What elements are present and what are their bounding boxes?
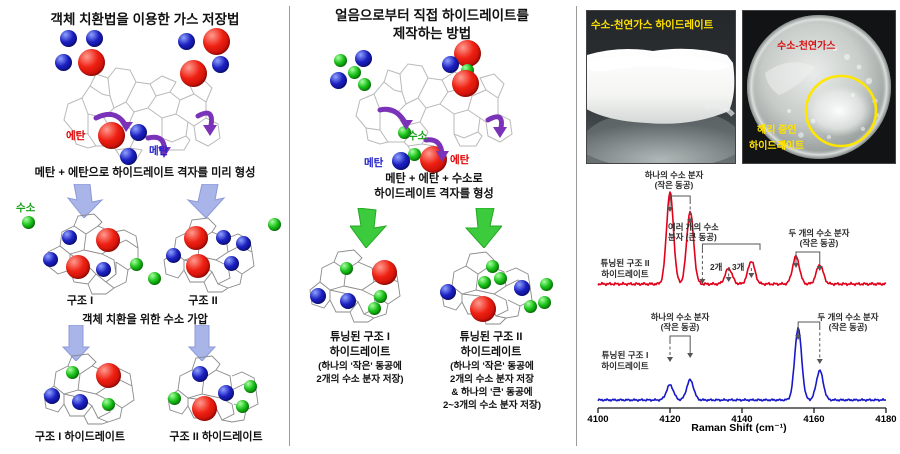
hydrogen-sphere: [494, 272, 507, 285]
insertion-arrows: [30, 38, 260, 173]
middle-step1-line2: 하이드레이트 격자를 형성: [300, 187, 568, 202]
ann-sII-3: 두 개의 수소 분자 (작은 동공): [766, 228, 872, 248]
figure-root: 객체 치환법을 이용한 가스 저장법: [0, 0, 900, 454]
ann-sII-2-line2: 분자 (큰 동공): [668, 232, 717, 242]
x-axis: [598, 408, 886, 413]
structure-II-label: 구조 II: [168, 294, 238, 308]
raman-chart: 하나의 수소 분자 (작은 동공) 여러 개의 수소 분자 (큰 동공) 두 개…: [580, 172, 898, 450]
hydrogen-sphere: [268, 218, 281, 231]
ann-sII-1: 하나의 수소 분자 (작은 동공): [622, 170, 726, 190]
x-axis-label: Raman Shift (cm⁻¹): [580, 422, 898, 434]
ann-sII-1-line1: 하나의 수소 분자: [645, 170, 704, 180]
hydrogen-sphere: [540, 278, 553, 291]
tuned-I-name-line2: 하이드레이트: [300, 345, 420, 359]
hydrogen-label: 수소: [16, 200, 35, 215]
hydrogen-sphere: [66, 366, 79, 379]
ann-sI-1: 하나의 수소 분자 (작은 동공): [628, 312, 732, 332]
methane-sphere: [62, 230, 77, 245]
methane-sphere: [216, 230, 231, 245]
ann-sII-2: 여러 개의 수소 분자 (큰 동공): [668, 222, 738, 242]
hydrate-II-label: 구조 II 하이드레이트: [148, 430, 284, 444]
ann-sII-3-line1: 두 개의 수소 분자: [789, 228, 850, 238]
annotation-bracket: [796, 252, 820, 257]
methane-sphere: [440, 284, 456, 300]
hydrogen-sphere: [486, 260, 499, 273]
ann-sI-1-line2: (작은 동공): [661, 322, 700, 332]
ethane-sphere: [470, 296, 496, 322]
structure-I-label: 구조 I: [45, 294, 115, 308]
methane-sphere: [218, 385, 234, 401]
hydrogen-sphere: [22, 216, 35, 229]
middle-arrow-down-1: [350, 208, 396, 248]
methane-sphere: [72, 394, 88, 410]
ann-sI-2-line1: 두 개의 수소 분자: [818, 312, 879, 322]
annotation-arrow: [817, 327, 823, 364]
annotation-bracket: [670, 196, 690, 201]
methane-sphere: [43, 252, 58, 267]
ann-sII-1-line2: (작은 동공): [655, 180, 694, 190]
hydrogen-label: 수소: [408, 128, 427, 143]
left-step1-text: 메탄 + 에탄으로 하이드레이트 격자를 미리 형성: [2, 166, 288, 181]
hydrogen-sphere: [244, 380, 257, 393]
hydrogen-sphere: [538, 296, 551, 309]
left-panel-title: 객체 치환법을 이용한 가스 저장법: [6, 12, 284, 29]
tuned-II-detail-line4: 2~3개의 수소 분자 저장): [424, 400, 560, 412]
hydrogen-sphere: [478, 276, 491, 289]
tuned-II-name-line1: 튜닝된 구조 II: [428, 330, 554, 344]
photo-left-caption: 수소-천연가스 하이드레이트: [591, 17, 713, 32]
methane-sphere: [514, 280, 530, 296]
photo-right-caption-bottom-line1: 해리 중인: [757, 121, 797, 136]
annotation-bracket: [702, 244, 760, 250]
hydrogen-sphere: [524, 300, 537, 313]
ann-sI-2: 두 개의 수소 분자 (작은 동공): [802, 312, 894, 332]
ethane-sphere: [192, 396, 217, 421]
photo-dissociating-hydrate: 수소-천연가스 해리 중인 하이드레이트: [742, 10, 896, 164]
curve-label-sI: 튜닝된 구조 I 하이드레이트: [594, 350, 656, 371]
hydrogen-sphere: [374, 290, 387, 303]
ethane-sphere: [96, 363, 121, 388]
tuned-I-detail-line1: (하나의 '작은' 동공에: [296, 361, 424, 373]
photo-right-caption-bottom-line2: 하이드레이트: [749, 137, 804, 152]
ethane-sphere: [66, 255, 90, 279]
hydrogen-sphere: [236, 400, 249, 413]
ann-sI-2-line2: (작은 동공): [829, 322, 868, 332]
annotation-arrow: [748, 268, 754, 278]
ethane-label: 에탄: [450, 152, 469, 167]
middle-arrow-down-2: [456, 208, 502, 248]
methane-sphere: [44, 388, 60, 404]
methane-sphere: [310, 288, 326, 304]
photo-right-caption-top: 수소-천연가스: [777, 37, 836, 52]
middle-panel-title-line1: 얼음으로부터 직접 하이드레이트를: [296, 8, 568, 25]
annotation-arrow: [667, 341, 673, 362]
tuned-II-detail-line2: 2개의 수소 분자 저장: [424, 374, 560, 386]
hydrogen-sphere: [102, 398, 115, 411]
hydrogen-sphere: [130, 258, 143, 271]
ethane-label: 에탄: [66, 128, 85, 143]
photo-hydrate-powder: 수소-천연가스 하이드레이트: [586, 10, 736, 164]
ethane-sphere: [96, 228, 120, 252]
methane-sphere: [192, 366, 208, 382]
tuned-I-detail-line2: 2개의 수소 분자 저장): [296, 374, 424, 386]
tuned-II-detail-line1: (하나의 '작은' 동공에: [424, 361, 560, 373]
tuned-II-detail-line3: & 하나의 '큰' 동공에: [424, 387, 560, 399]
panel-divider-2: [576, 6, 577, 446]
ann-sI-1-line1: 하나의 수소 분자: [651, 312, 710, 322]
count-label-3gae: 3개: [732, 261, 744, 273]
tuned-I-name-line1: 튜닝된 구조 I: [300, 330, 420, 344]
curve-label-sII-line1: 튜닝된 구조 II: [600, 258, 649, 268]
curve-label-sI-line2: 하이드레이트: [601, 361, 648, 371]
ann-sII-2-line1: 여러 개의 수소: [668, 222, 719, 232]
methane-sphere: [224, 256, 239, 271]
x-axis-label-text: Raman Shift (cm⁻¹): [691, 422, 786, 434]
curve-label-sII: 튜닝된 구조 II 하이드레이트: [594, 258, 656, 279]
curve-label-sII-line2: 하이드레이트: [601, 269, 648, 279]
panel-divider-1: [289, 6, 290, 446]
ann-sII-3-line2: (작은 동공): [800, 238, 839, 248]
hydrogen-sphere: [168, 392, 181, 405]
middle-panel-title-line2: 제작하는 방법: [296, 26, 568, 43]
hydrate-I-label: 구조 I 하이드레이트: [14, 430, 146, 444]
ethane-sphere: [372, 260, 397, 285]
ethane-sphere: [184, 226, 208, 250]
methane-sphere: [96, 262, 111, 277]
methane-sphere: [340, 293, 356, 309]
hydrogen-sphere: [368, 302, 381, 315]
tuned-II-name-line2: 하이드레이트: [428, 345, 554, 359]
methane-label: 메탄: [149, 143, 168, 158]
middle-step1-line1: 메탄 + 에탄 + 수소로: [300, 172, 568, 187]
curve-label-sI-line1: 튜닝된 구조 I: [602, 350, 649, 360]
methane-sphere: [166, 248, 181, 263]
hydrogen-sphere: [340, 262, 353, 275]
middle-insertion-arrows: [330, 44, 540, 174]
count-label-2gae: 2개: [710, 261, 722, 273]
methane-label: 메탄: [364, 155, 383, 170]
annotation-arrow: [687, 341, 693, 358]
ethane-sphere: [186, 254, 210, 278]
annotation-arrow: [699, 250, 705, 284]
annotation-bracket: [670, 336, 690, 341]
methane-sphere: [236, 236, 251, 251]
hydrogen-sphere: [148, 272, 161, 285]
